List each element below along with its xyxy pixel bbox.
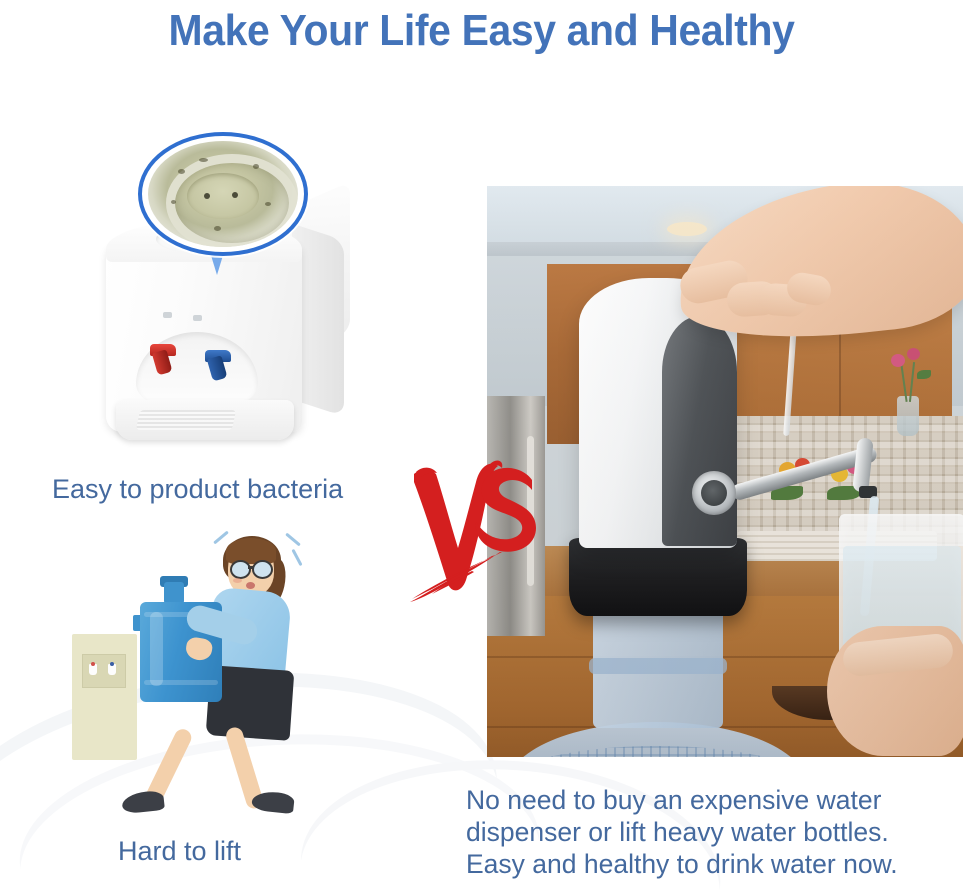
product-photo: [487, 186, 963, 757]
flower-leaf: [917, 370, 931, 379]
flower-blossom: [907, 348, 920, 360]
product-infographic: Make Your Life Easy and Healthy: [0, 0, 963, 894]
countertop-dispenser-illustration: [80, 132, 410, 472]
bottle-highlight: [150, 612, 163, 686]
bottle-neck: [164, 582, 184, 604]
magnifier-ring: [138, 132, 308, 256]
woman-back-shoe: [121, 790, 165, 814]
glasses-lens-left: [230, 560, 251, 579]
cooler-hot-indicator: [91, 662, 95, 666]
description-line-1: No need to buy an expensive water: [466, 784, 956, 816]
cold-water-tap: [203, 350, 233, 384]
effort-line: [291, 549, 302, 566]
floor-water-cooler: [72, 634, 137, 760]
drip-tray-grill: [136, 410, 236, 430]
hot-water-tap: [148, 344, 178, 378]
pump-black-collar: [569, 538, 747, 616]
reservoir-hole-right: [232, 192, 238, 198]
description-line-2: dispenser or lift heavy water bottles.: [466, 816, 956, 848]
reservoir-plate: [187, 173, 259, 220]
page-title: Make Your Life Easy and Healthy: [34, 4, 930, 58]
reservoir-hole-left: [204, 193, 210, 199]
versus-badge: [404, 452, 544, 602]
woman-lifting-bottle-illustration: [60, 520, 405, 820]
flower-vase: [897, 396, 919, 436]
effort-line: [285, 533, 301, 547]
recessed-ceiling-light: [667, 222, 707, 236]
effort-line: [213, 531, 229, 545]
indicator-led-cold: [193, 315, 202, 321]
product-description: No need to buy an expensive water dispen…: [466, 784, 956, 880]
grime-speck: [178, 169, 185, 174]
description-line-3: Easy and healthy to drink water now.: [466, 848, 956, 880]
dirty-reservoir-image: [148, 141, 298, 247]
cooler-cold-indicator: [110, 662, 114, 666]
grime-speck: [214, 226, 221, 231]
indicator-led-hot: [163, 312, 172, 318]
glasses-bridge: [248, 566, 253, 569]
woman-cheek-blush: [233, 578, 242, 583]
grime-speck: [199, 158, 208, 162]
magnifier-callout: [138, 132, 300, 256]
caption-easy-to-product-bacteria: Easy to product bacteria: [52, 473, 343, 506]
woman-glasses: [230, 560, 274, 575]
woman-mouth: [246, 582, 255, 589]
glasses-lens-right: [252, 560, 273, 579]
water-bottle-rib: [589, 658, 727, 674]
flower-blossom: [891, 354, 905, 367]
pump-power-button-inner[interactable]: [701, 480, 727, 506]
caption-hard-to-lift: Hard to lift: [118, 835, 241, 868]
